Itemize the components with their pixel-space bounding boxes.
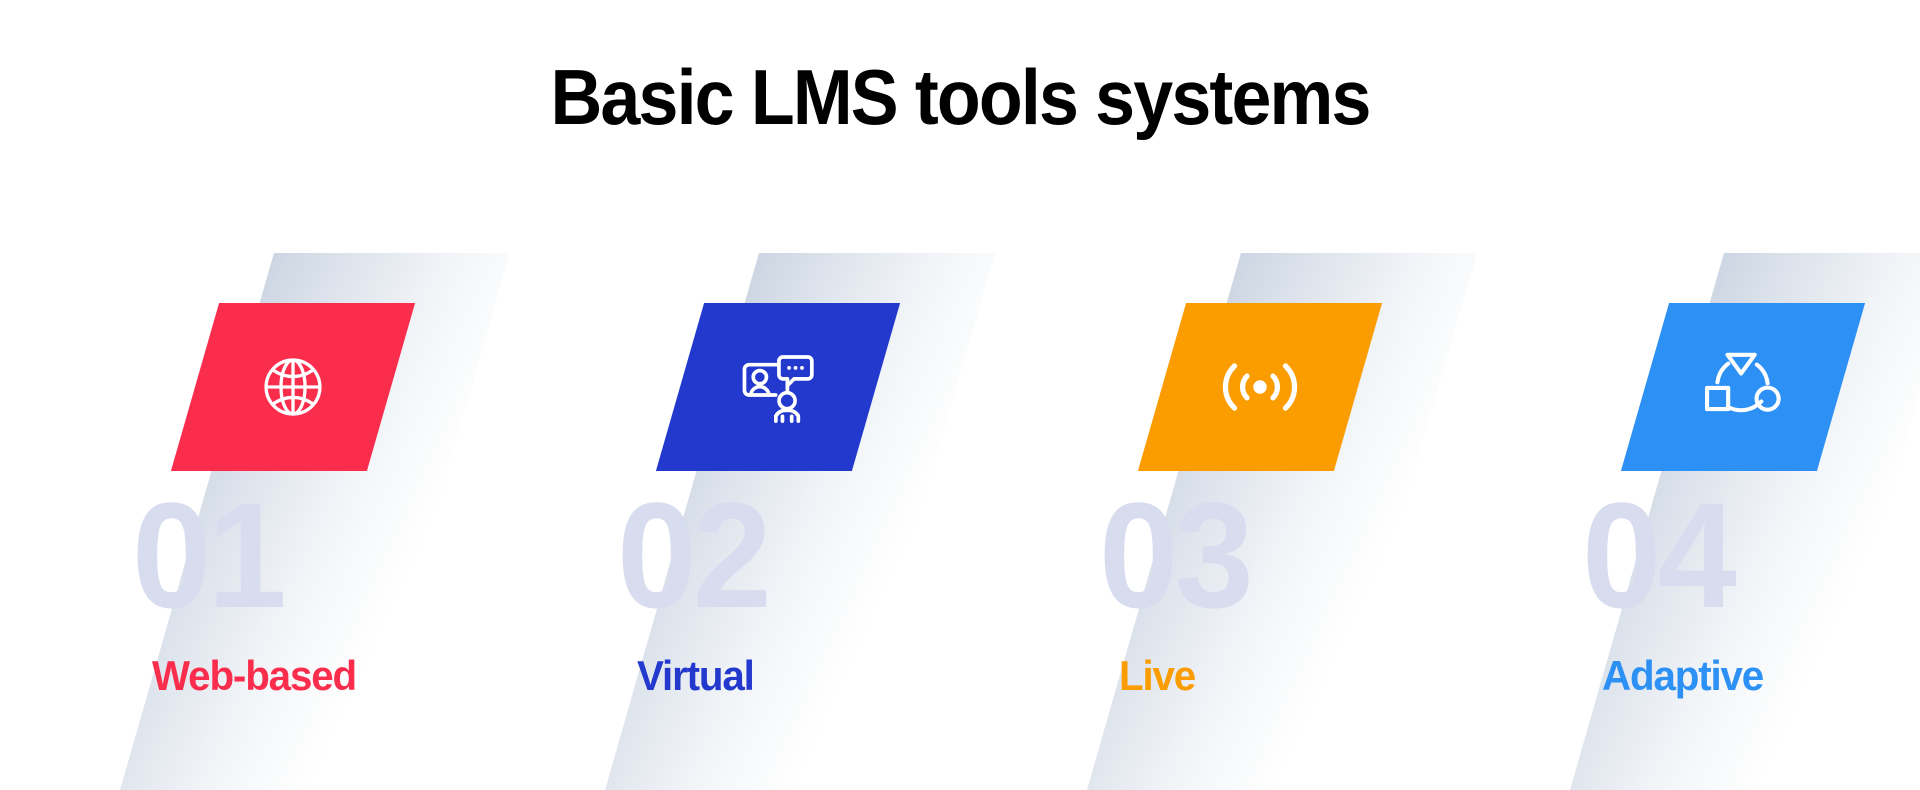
globe-icon <box>255 349 331 425</box>
card-adaptive[interactable]: 04 Adaptive <box>1530 0 1920 790</box>
infographic-canvas: Basic LMS tools systems 01 Web-based <box>0 0 1920 790</box>
card-label: Adaptive <box>1602 655 1763 697</box>
card-web-based[interactable]: 01 Web-based <box>80 0 510 790</box>
video-conference-icon <box>738 349 818 425</box>
card-number: 04 <box>1582 480 1896 630</box>
adaptive-shapes-icon <box>1702 348 1784 426</box>
card-label: Live <box>1119 655 1195 697</box>
broadcast-signal-icon <box>1219 353 1301 421</box>
card-number: 03 <box>1099 480 1413 630</box>
card-virtual[interactable]: 02 Virtual <box>565 0 995 790</box>
card-number: 01 <box>132 480 446 630</box>
card-label: Web-based <box>152 655 356 697</box>
card-live[interactable]: 03 Live <box>1047 0 1477 790</box>
cards-row: 01 Web-based <box>0 0 1920 790</box>
card-number: 02 <box>617 480 931 630</box>
card-label: Virtual <box>637 655 754 697</box>
